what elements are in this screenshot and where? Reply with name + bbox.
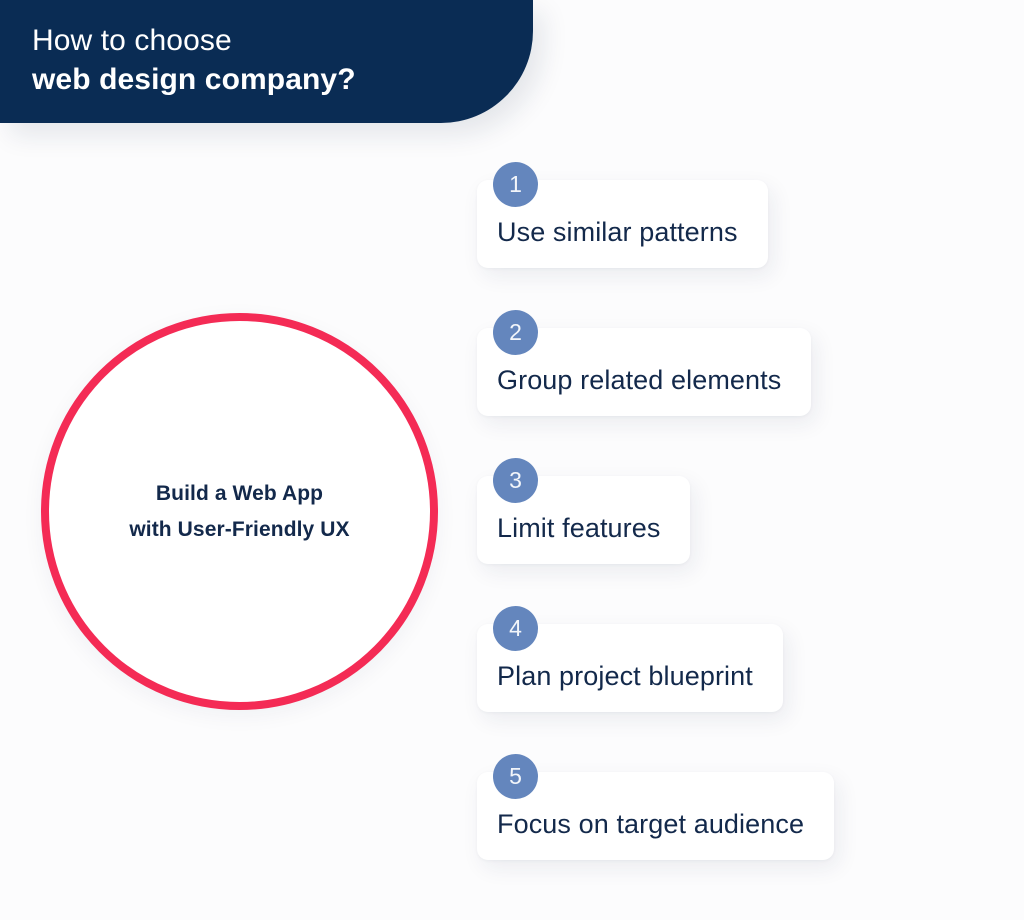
step-number: 5 <box>509 765 522 788</box>
step-number-badge: 2 <box>493 310 538 355</box>
step-number-badge: 3 <box>493 458 538 503</box>
step-number-badge: 1 <box>493 162 538 207</box>
focus-circle-line-1: Build a Web App <box>156 479 323 509</box>
step-number: 2 <box>509 321 522 344</box>
focus-circle-line-2: with User-Friendly UX <box>129 515 349 545</box>
step-number-badge: 4 <box>493 606 538 651</box>
banner-title-line-2: web design company? <box>32 60 533 100</box>
step-number-badge: 5 <box>493 754 538 799</box>
focus-circle-text: Build a Web App with User-Friendly UX <box>41 313 438 710</box>
banner-title-line-1: How to choose <box>32 22 533 60</box>
step-label: Plan project blueprint <box>497 658 753 694</box>
step-label: Use similar patterns <box>497 214 738 250</box>
step-number: 4 <box>509 617 522 640</box>
step-number: 3 <box>509 469 522 492</box>
step-number: 1 <box>509 173 522 196</box>
step-label: Group related elements <box>497 362 781 398</box>
step-label: Focus on target audience <box>497 806 804 842</box>
step-label: Limit features <box>497 510 660 546</box>
focus-circle: Build a Web App with User-Friendly UX <box>41 313 438 710</box>
header-banner: How to choose web design company? <box>0 0 533 123</box>
